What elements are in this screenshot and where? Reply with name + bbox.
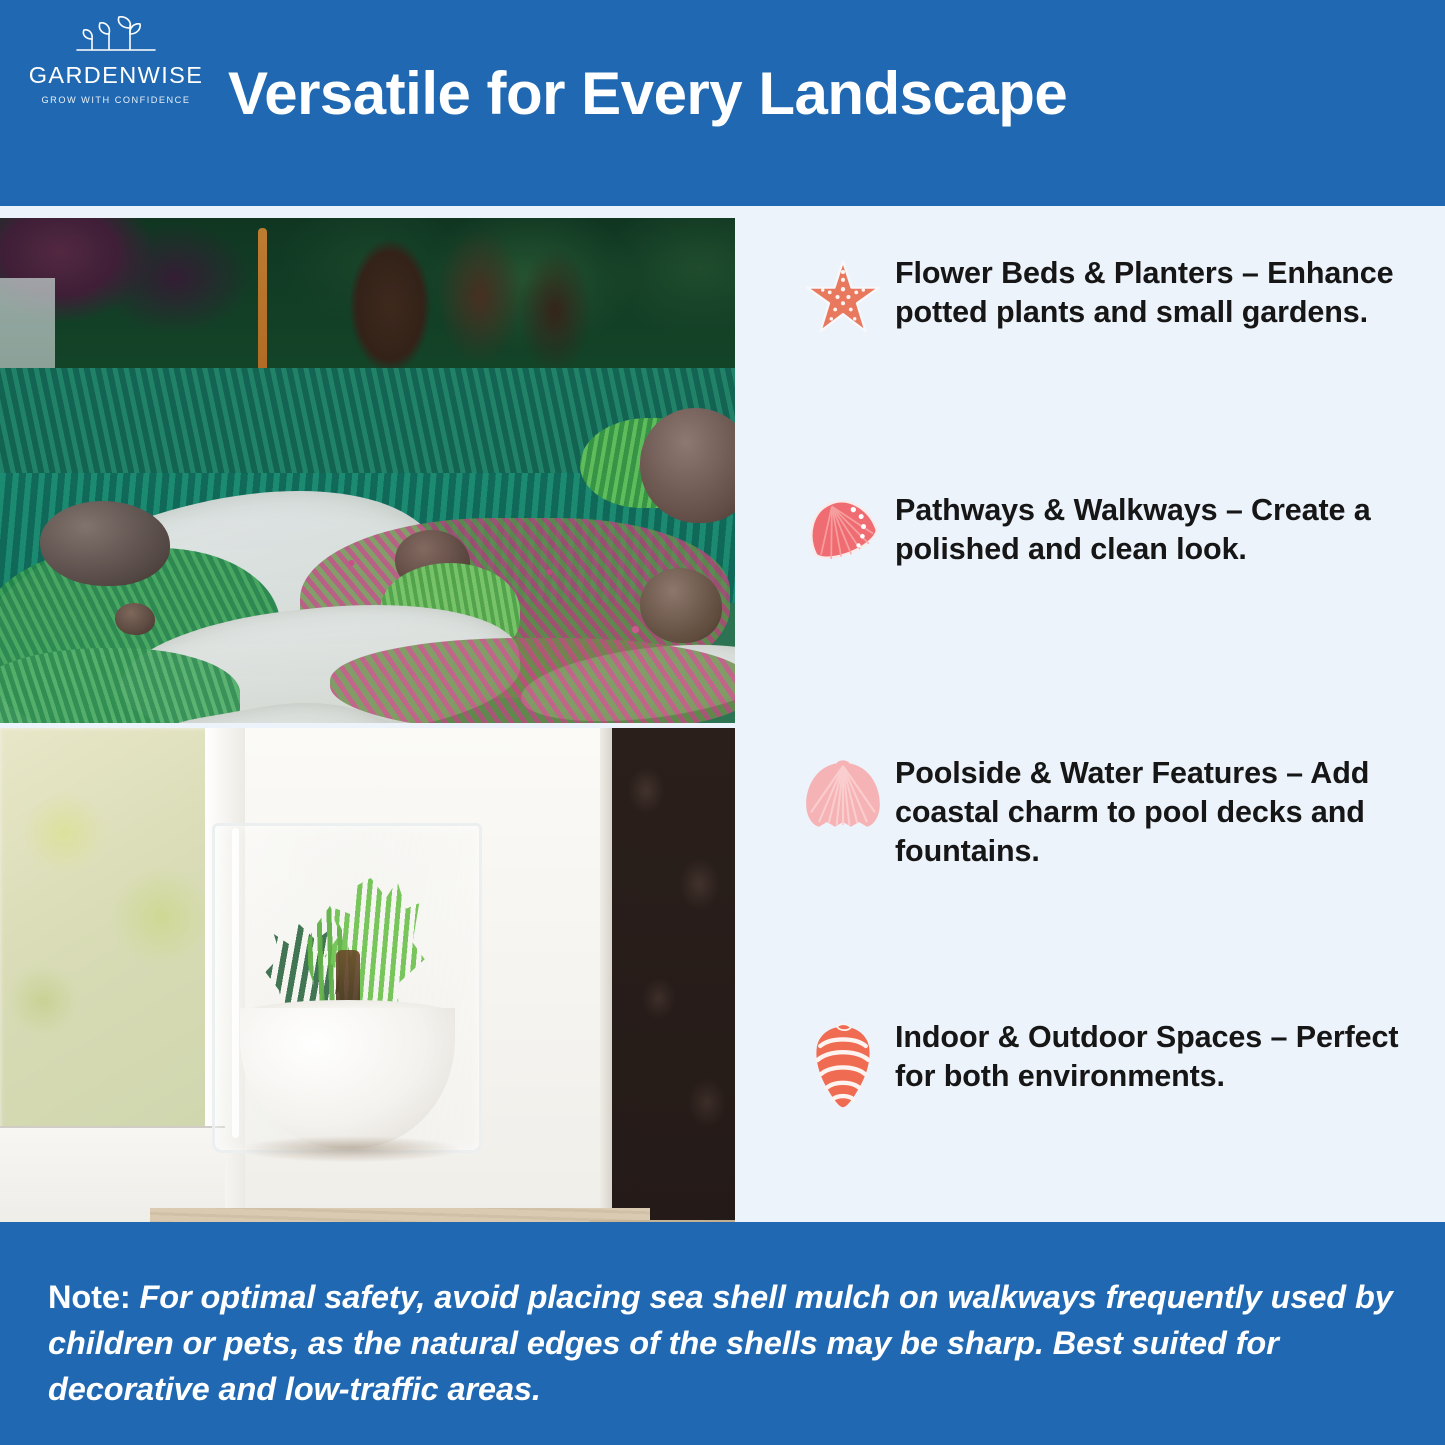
scallop-shell-icon: [790, 754, 895, 871]
content-area: Flower Beds & Planters – Enhance potted …: [0, 206, 1445, 1222]
safety-note: Note: For optimal safety, avoid placing …: [48, 1274, 1403, 1412]
list-item-label: Poolside & Water Features – Add coastal …: [895, 754, 1405, 871]
brand-name: GARDENWISE: [16, 64, 216, 88]
list-item: Indoor & Outdoor Spaces – Perfect for bo…: [790, 1018, 1445, 1112]
photo-column: [0, 218, 735, 1222]
sprout-leaves-icon: [51, 12, 181, 62]
benefits-list: Flower Beds & Planters – Enhance potted …: [735, 206, 1445, 1222]
infographic-page: GARDENWISE GROW WITH CONFIDENCE Versatil…: [0, 0, 1445, 1445]
header-band: GARDENWISE GROW WITH CONFIDENCE Versatil…: [0, 0, 1445, 206]
footer-band: Note: For optimal safety, avoid placing …: [0, 1222, 1445, 1445]
fan-shell-icon: [790, 491, 895, 573]
page-title: Versatile for Every Landscape: [228, 62, 1408, 125]
brand-tagline: GROW WITH CONFIDENCE: [16, 95, 216, 105]
list-item: Poolside & Water Features – Add coastal …: [790, 754, 1445, 871]
safety-note-body: For optimal safety, avoid placing sea sh…: [48, 1279, 1393, 1407]
list-item: Flower Beds & Planters – Enhance potted …: [790, 254, 1445, 336]
garden-landscape-photo: [0, 218, 735, 723]
conch-shell-icon: [790, 1018, 895, 1112]
list-item-label: Pathways & Walkways – Create a polished …: [895, 491, 1405, 573]
list-item-label: Flower Beds & Planters – Enhance potted …: [895, 254, 1405, 336]
brand-logo: GARDENWISE GROW WITH CONFIDENCE: [16, 12, 216, 105]
list-item-label: Indoor & Outdoor Spaces – Perfect for bo…: [895, 1018, 1405, 1112]
safety-note-label: Note:: [48, 1279, 131, 1315]
indoor-planter-photo: [0, 728, 735, 1222]
starfish-icon: [790, 254, 895, 336]
list-item: Pathways & Walkways – Create a polished …: [790, 491, 1445, 573]
